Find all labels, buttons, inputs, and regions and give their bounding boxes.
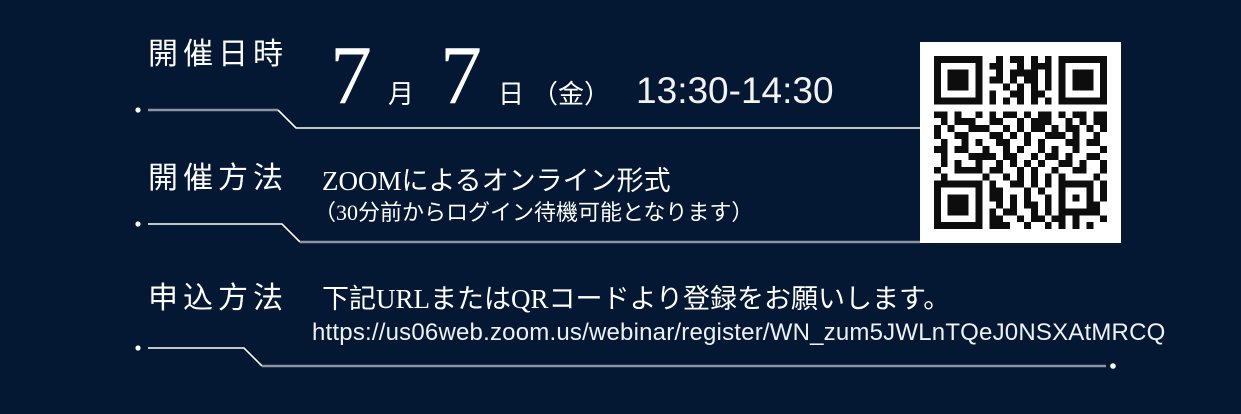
application-value: 下記URLまたはQRコードより登録をお願いします。 https://us06we… xyxy=(322,284,1166,349)
row-label-date: 開催日時 xyxy=(148,36,298,74)
row-label-method: 開催方法 xyxy=(148,160,298,198)
info-row-application: 申込方法 下記URLまたはQRコードより登録をお願いします。 https://u… xyxy=(0,280,1241,390)
weekday: （金） xyxy=(532,74,610,111)
registration-url[interactable]: https://us06web.zoom.us/webinar/register… xyxy=(312,316,1166,350)
divider-dot-left xyxy=(135,107,140,112)
method-sub-text: （30分前からログイン待機可能となります） xyxy=(314,198,753,228)
qr-code-graphic xyxy=(920,42,1121,243)
date-value: 7 月 7 日 （金） 13:30-14:30 xyxy=(330,34,834,118)
divider-segment-white xyxy=(148,348,262,366)
divider-segment-white xyxy=(148,224,300,242)
day-number: 7 xyxy=(440,34,482,118)
divider-dot-right xyxy=(1110,363,1116,369)
month-number: 7 xyxy=(330,34,372,118)
divider-dot-left xyxy=(135,345,140,350)
application-main-text: 下記URLまたはQRコードより登録をお願いします。 xyxy=(322,284,1166,316)
row-label-application: 申込方法 xyxy=(148,280,298,318)
webinar-info-banner: 開催日時 7 月 7 日 （金） 13:30-14:30 開催方法 ZOOMによ… xyxy=(0,0,1241,414)
month-unit: 月 xyxy=(388,74,414,111)
divider-dot-left xyxy=(135,221,140,226)
method-value: ZOOMによるオンライン形式 （30分前からログイン待機可能となります） xyxy=(322,166,753,228)
time-range: 13:30-14:30 xyxy=(636,70,834,112)
registration-qr-code[interactable] xyxy=(920,42,1121,243)
day-unit: 日 xyxy=(498,74,524,111)
method-main-text: ZOOMによるオンライン形式 xyxy=(322,166,753,198)
